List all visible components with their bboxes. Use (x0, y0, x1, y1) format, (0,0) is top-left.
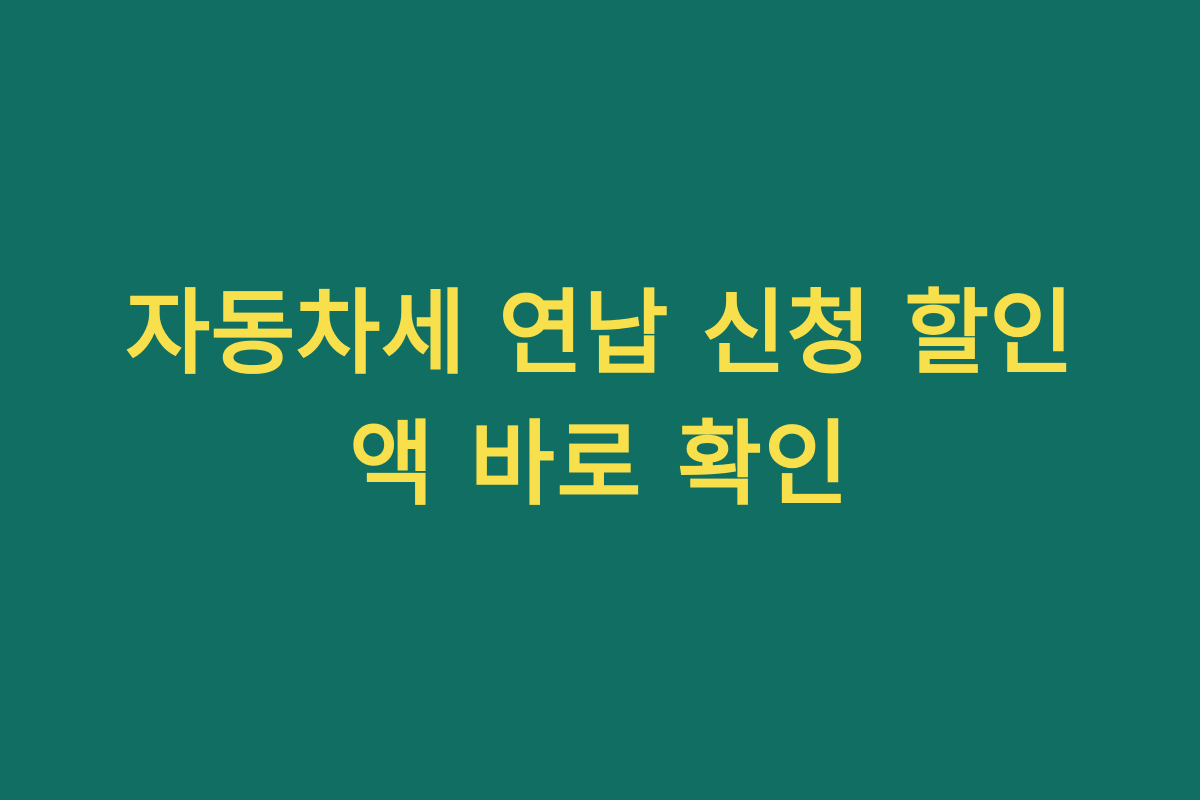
banner-container: 자동차세 연납 신청 할인 액 바로 확인 (0, 0, 1200, 800)
headline-text: 자동차세 연납 신청 할인 액 바로 확인 (70, 269, 1130, 530)
headline-line-2: 액 바로 확인 (70, 400, 1130, 531)
headline-line-1: 자동차세 연납 신청 할인 (70, 269, 1130, 400)
